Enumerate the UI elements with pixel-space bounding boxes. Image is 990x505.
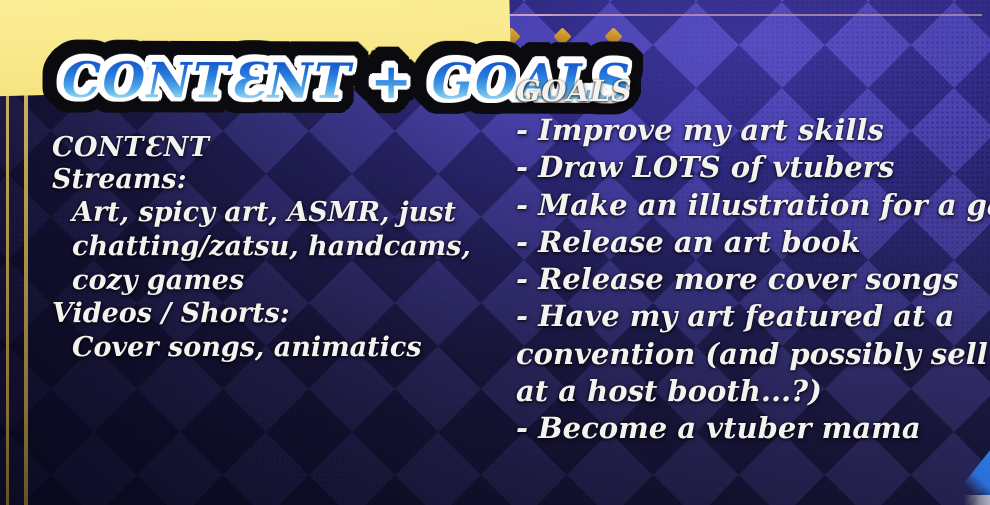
goal-item-label: Release an art book — [538, 225, 860, 259]
goal-bullet: - — [516, 150, 528, 184]
content-column: CONTƐNT Streams: Art, spicy art, ASMR, j… — [52, 132, 482, 365]
goal-item: - Improve my art skills — [516, 112, 990, 149]
content-group-label-streams: Streams: — [52, 164, 482, 196]
goal-item: - Draw LOTS of vtubers — [516, 149, 990, 186]
gold-diamond-icon — [553, 27, 571, 45]
goal-item: - Release an art book — [516, 224, 990, 261]
goal-item-label: Become a vtuber mama — [538, 411, 920, 445]
corner-accent-edge — [964, 495, 990, 505]
goal-item-label: Release more cover songs — [538, 262, 959, 296]
left-vertical-rule-outer — [6, 92, 9, 505]
goal-item: - Become a vtuber mama — [516, 410, 990, 447]
content-line: Cover songs, animatics — [52, 331, 482, 365]
slide-root: CONTƐNT + GOALS CONTƐNT Streams: Art, sp… — [0, 0, 990, 505]
goal-bullet: - — [516, 299, 528, 333]
goal-bullet: - — [516, 188, 528, 222]
goal-bullet: - — [516, 262, 528, 296]
content-line: chatting/zatsu, handcams, — [52, 230, 482, 264]
left-vertical-rule-inner — [24, 92, 28, 505]
top-divider-rule — [502, 14, 982, 16]
goal-item-label: Make an illustration for a game — [538, 188, 990, 222]
content-heading: CONTƐNT — [52, 132, 482, 164]
goals-heading: GOALS — [516, 74, 990, 108]
goal-bullet: - — [516, 225, 528, 259]
content-line: Art, spicy art, ASMR, just — [52, 196, 482, 230]
goal-item-label: Draw LOTS of vtubers — [538, 150, 894, 184]
content-line: cozy games — [52, 264, 482, 298]
goal-bullet: - — [516, 113, 528, 147]
goal-item-label: Have my art featured at a convention (an… — [516, 299, 988, 408]
goal-item: - Make an illustration for a game — [516, 187, 990, 224]
goal-item-label: Improve my art skills — [538, 113, 884, 147]
gold-diamond-icon — [604, 27, 622, 45]
content-group-label-videos: Videos / Shorts: — [52, 298, 482, 330]
goal-bullet: - — [516, 411, 528, 445]
goal-item: - Have my art featured at a convention (… — [516, 298, 990, 410]
goals-column: GOALS - Improve my art skills - Draw LOT… — [516, 74, 990, 447]
goal-item: - Release more cover songs — [516, 261, 990, 298]
diamond-dot-row — [505, 30, 620, 43]
